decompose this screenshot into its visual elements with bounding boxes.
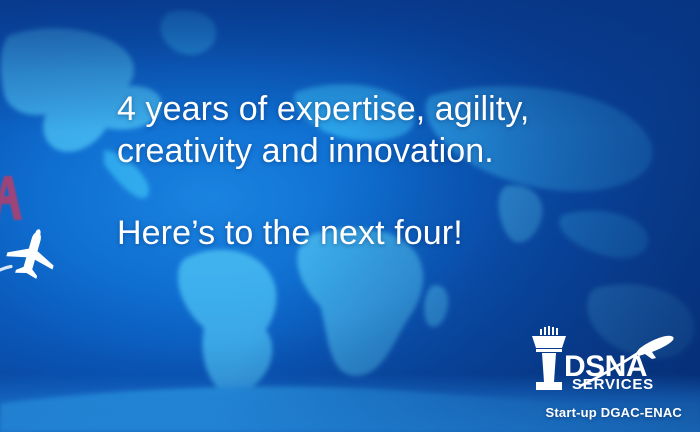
partial-letter-a-mark <box>0 176 22 220</box>
headline-line-2: Here’s to the next four! <box>117 212 637 254</box>
propeller-plane-icon <box>2 226 64 282</box>
logo-wordmark-services: SERVICES <box>572 376 654 393</box>
logo-lockup: DSNA SERVICES Start-up DGAC-ENAC <box>498 326 688 424</box>
headline-line-1: 4 years of expertise, agility, creativit… <box>117 90 529 170</box>
logo-tagline: Start-up DGAC-ENAC <box>546 405 682 420</box>
headline: 4 years of expertise, agility, creativit… <box>117 46 637 296</box>
control-tower-icon <box>532 326 566 390</box>
dsna-services-logo: DSNA SERVICES <box>506 326 684 392</box>
anniversary-card: 4 years of expertise, agility, creativit… <box>0 0 700 432</box>
